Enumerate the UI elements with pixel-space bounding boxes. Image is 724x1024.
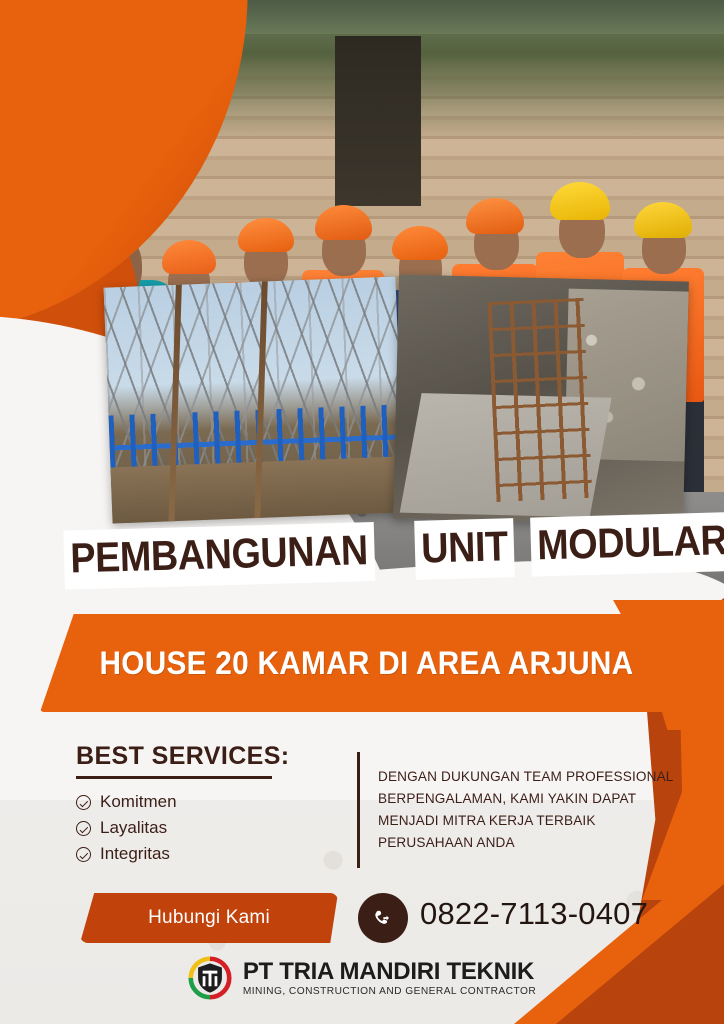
footer-text-block: PT TRIA MANDIRI TEKNIK MINING, CONSTRUCT… [243,959,536,997]
service-label: Integritas [100,844,170,864]
poster-canvas: PEMBANGUNAN UNIT MODULAR HOUSE 20 KAMAR … [0,0,724,1024]
phone-number[interactable]: 0822-7113-0407 [420,896,648,932]
service-item-layalitas: Layalitas [76,818,290,838]
company-name: PT TRIA MANDIRI TEKNIK [243,959,536,984]
headline-word-3: MODULAR [530,512,724,577]
steel-truss-photo [104,276,405,523]
rebar-foundation-photo [393,274,689,525]
services-underline [76,776,272,779]
headline-word-2: UNIT [414,518,515,580]
description-divider [357,752,360,868]
services-title: BEST SERVICES: [76,742,290,771]
check-circle-icon [76,795,91,810]
wooden-door [335,36,421,206]
roof-shadow [230,0,724,34]
subtitle-text: HOUSE 20 KAMAR DI AREA ARJUNA [40,645,633,682]
shield-tm-monogram-logo [188,956,232,1000]
headline-word-1: PEMBANGUNAN [63,522,375,590]
check-circle-icon [76,847,91,862]
best-services-block: BEST SERVICES: Komitmen Layalitas Integr… [76,742,290,870]
service-item-komitmen: Komitmen [76,792,290,812]
service-label: Layalitas [100,818,167,838]
contact-button-label: Hubungi Kami [148,907,270,929]
check-circle-icon [76,821,91,836]
description-text: DENGAN DUKUNGAN TEAM PROFESSIONAL BERPEN… [378,766,694,854]
footer-branding: PT TRIA MANDIRI TEKNIK MINING, CONSTRUCT… [0,956,724,1000]
service-item-integritas: Integritas [76,844,290,864]
whatsapp-icon[interactable] [358,893,408,943]
contact-button[interactable]: Hubungi Kami [80,893,338,943]
subtitle-banner: HOUSE 20 KAMAR DI AREA ARJUNA [40,614,688,712]
service-label: Komitmen [100,792,177,812]
company-tagline: MINING, CONSTRUCTION AND GENERAL CONTRAC… [243,986,536,997]
